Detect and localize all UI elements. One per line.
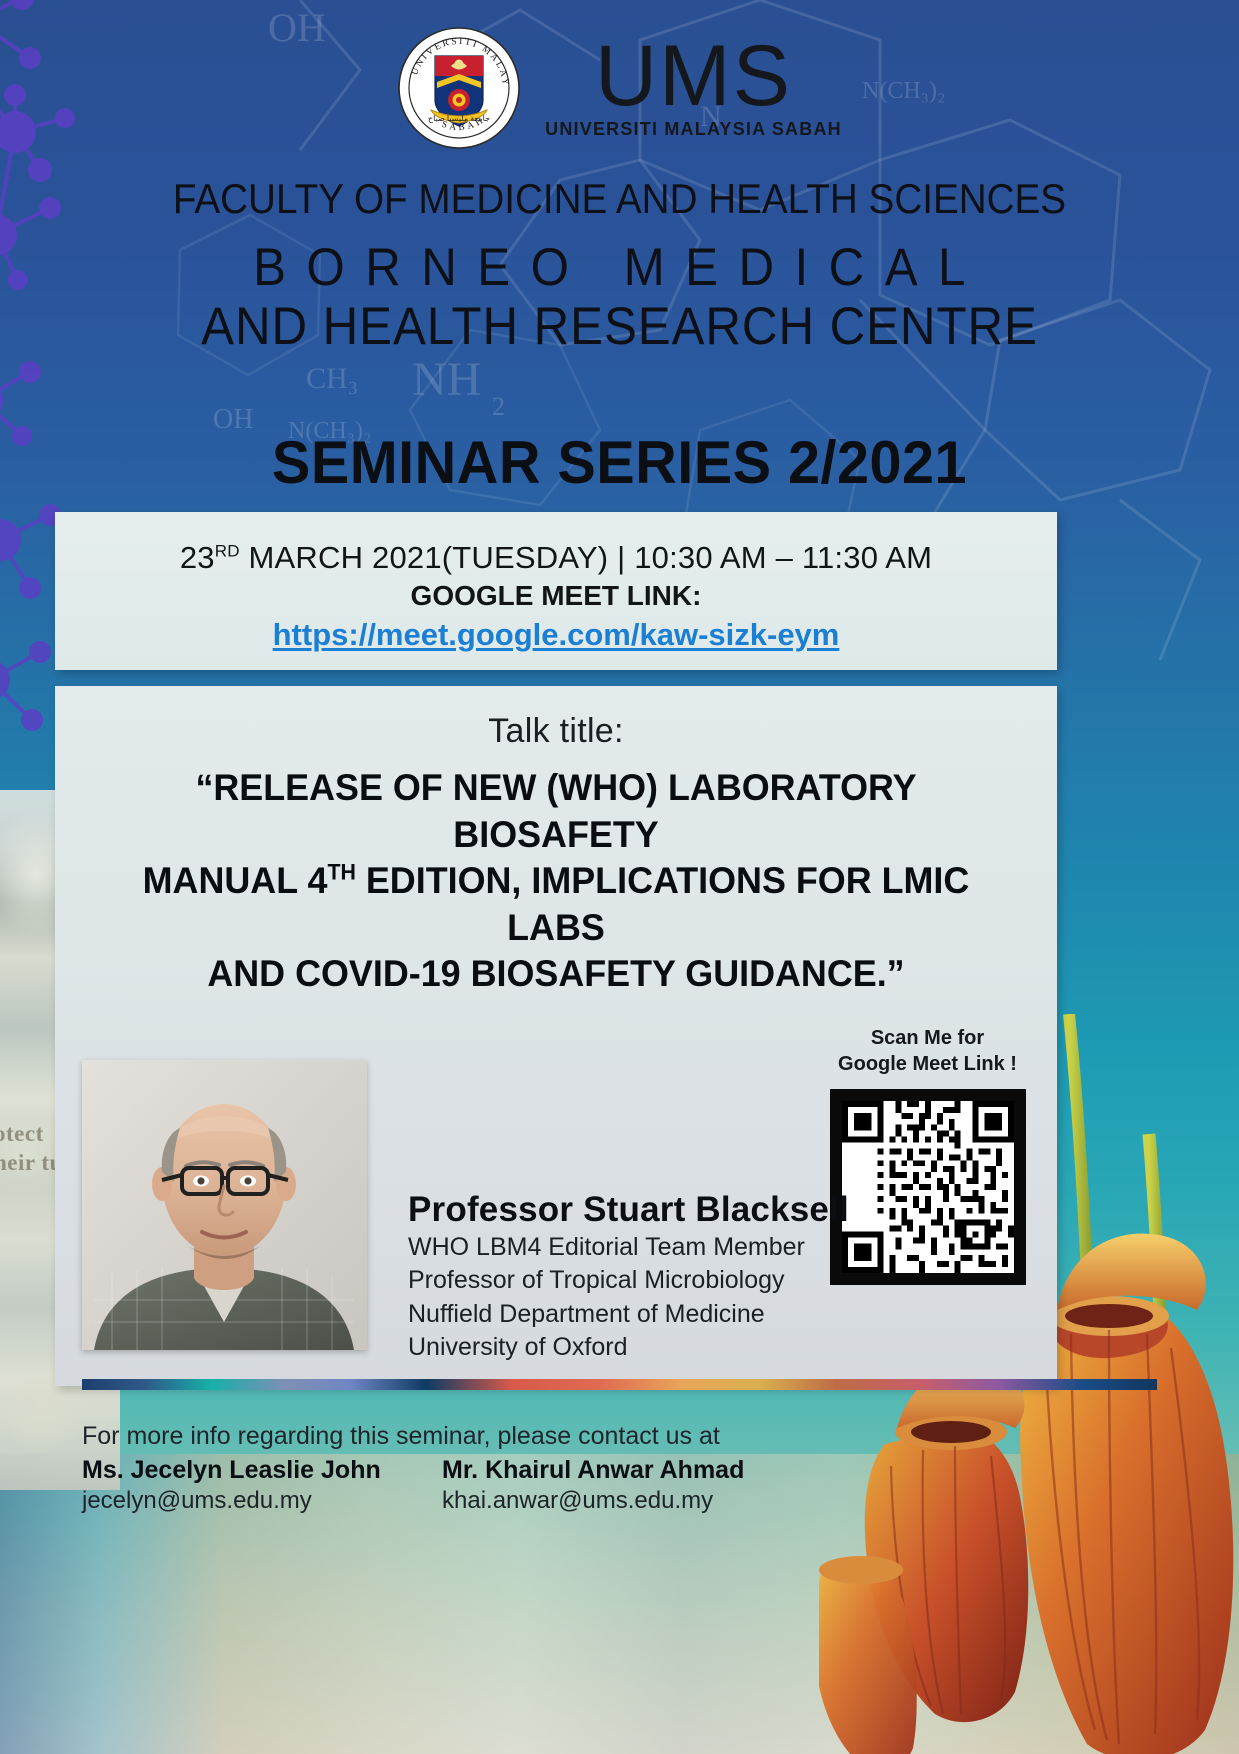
event-date-rest: MARCH 2021(TUESDAY) | 10:30 AM – 11:30 A… (240, 540, 932, 575)
chem-label-2: 2 (492, 392, 505, 422)
ums-wordmark: UMS UNIVERSITI MALAYSIA SABAH (545, 40, 842, 141)
ums-acronym: UMS (595, 40, 792, 114)
qr-caption-line2: Google Meet Link ! (810, 1051, 1045, 1077)
color-divider (82, 1379, 1157, 1390)
qr-caption-line1: Scan Me for (810, 1025, 1045, 1051)
contact-card: Ms. Jecelyn Leaslie John jecelyn@ums.edu… (82, 1456, 392, 1515)
speaker-info: Professor Stuart Blacksell WHO LBM4 Edit… (408, 1190, 968, 1363)
event-date-day: 23 (180, 540, 215, 575)
footer-lead-text: For more info regarding this seminar, pl… (82, 1422, 1082, 1451)
event-date-suffix: RD (215, 542, 240, 561)
talk-title-line3: AND COVID-19 BIOSAFETY GUIDANCE.” (95, 951, 1017, 998)
contact-name: Mr. Khairul Anwar Ahmad (442, 1456, 752, 1485)
speaker-portrait-image (82, 1060, 367, 1350)
ums-crest-icon: UNIVERSITI MALAYSIA SABAH جامعة مليسيا ص… (397, 26, 521, 150)
speaker-affiliation-4: University of Oxford (408, 1332, 968, 1363)
contact-email[interactable]: khai.anwar@ums.edu.my (442, 1487, 752, 1515)
speaker-affiliation-3: Nuffield Department of Medicine (408, 1299, 968, 1330)
talk-title-line2-sup: TH (327, 860, 355, 885)
chem-label-ch3-1: CH₃ (306, 362, 358, 396)
talk-title-line2-a: MANUAL 4 (143, 860, 328, 901)
contact-email[interactable]: jecelyn@ums.edu.my (82, 1487, 392, 1515)
centre-name-line2: AND HEALTH RESEARCH CENTRE (43, 296, 1195, 357)
speaker-name: Professor Stuart Blacksell (408, 1190, 968, 1230)
google-meet-link[interactable]: https://meet.google.com/kaw-sizk-eym (55, 617, 1057, 653)
footer-contacts: For more info regarding this seminar, pl… (82, 1422, 1082, 1515)
contact-name: Ms. Jecelyn Leaslie John (82, 1456, 392, 1485)
speaker-photo (82, 1060, 367, 1350)
talk-title-line1: “RELEASE OF NEW (WHO) LABORATORY BIOSAFE… (95, 765, 1017, 858)
event-datetime: 23RD MARCH 2021(TUESDAY) | 10:30 AM – 11… (55, 512, 1057, 576)
speaker-affiliation-1: WHO LBM4 Editorial Team Member (408, 1232, 968, 1263)
svg-text:جامعة مليسيا صباح: جامعة مليسيا صباح (428, 114, 490, 123)
datetime-panel: 23RD MARCH 2021(TUESDAY) | 10:30 AM – 11… (55, 512, 1057, 670)
logo-row: UNIVERSITI MALAYSIA SABAH جامعة مليسيا ص… (0, 26, 1239, 150)
contact-card: Mr. Khairul Anwar Ahmad khai.anwar@ums.e… (442, 1456, 752, 1515)
centre-name-line1: BORNEO MEDICAL (43, 237, 1195, 298)
speaker-affiliation-2: Professor of Tropical Microbiology (408, 1265, 968, 1296)
talk-title-line2-b: EDITION, IMPLICATIONS FOR LMIC LABS (356, 860, 969, 948)
talk-title-line2: MANUAL 4TH EDITION, IMPLICATIONS FOR LMI… (95, 858, 1017, 951)
talk-title-label: Talk title: (55, 686, 1057, 751)
chem-label-nh: NH (412, 352, 481, 407)
google-meet-label: GOOGLE MEET LINK: (55, 580, 1057, 612)
seminar-poster: OH N(CH₃)₂ CH₃ NH 2 OH N(CH₃)₂ N (0, 0, 1239, 1754)
talk-title-text: “RELEASE OF NEW (WHO) LABORATORY BIOSAFE… (70, 765, 1042, 998)
ums-full-name: UNIVERSITI MALAYSIA SABAH (545, 119, 842, 140)
faculty-name: FACULTY OF MEDICINE AND HEALTH SCIENCES (50, 175, 1190, 223)
seminar-series-title: SEMINAR SERIES 2/2021 (25, 428, 1214, 497)
